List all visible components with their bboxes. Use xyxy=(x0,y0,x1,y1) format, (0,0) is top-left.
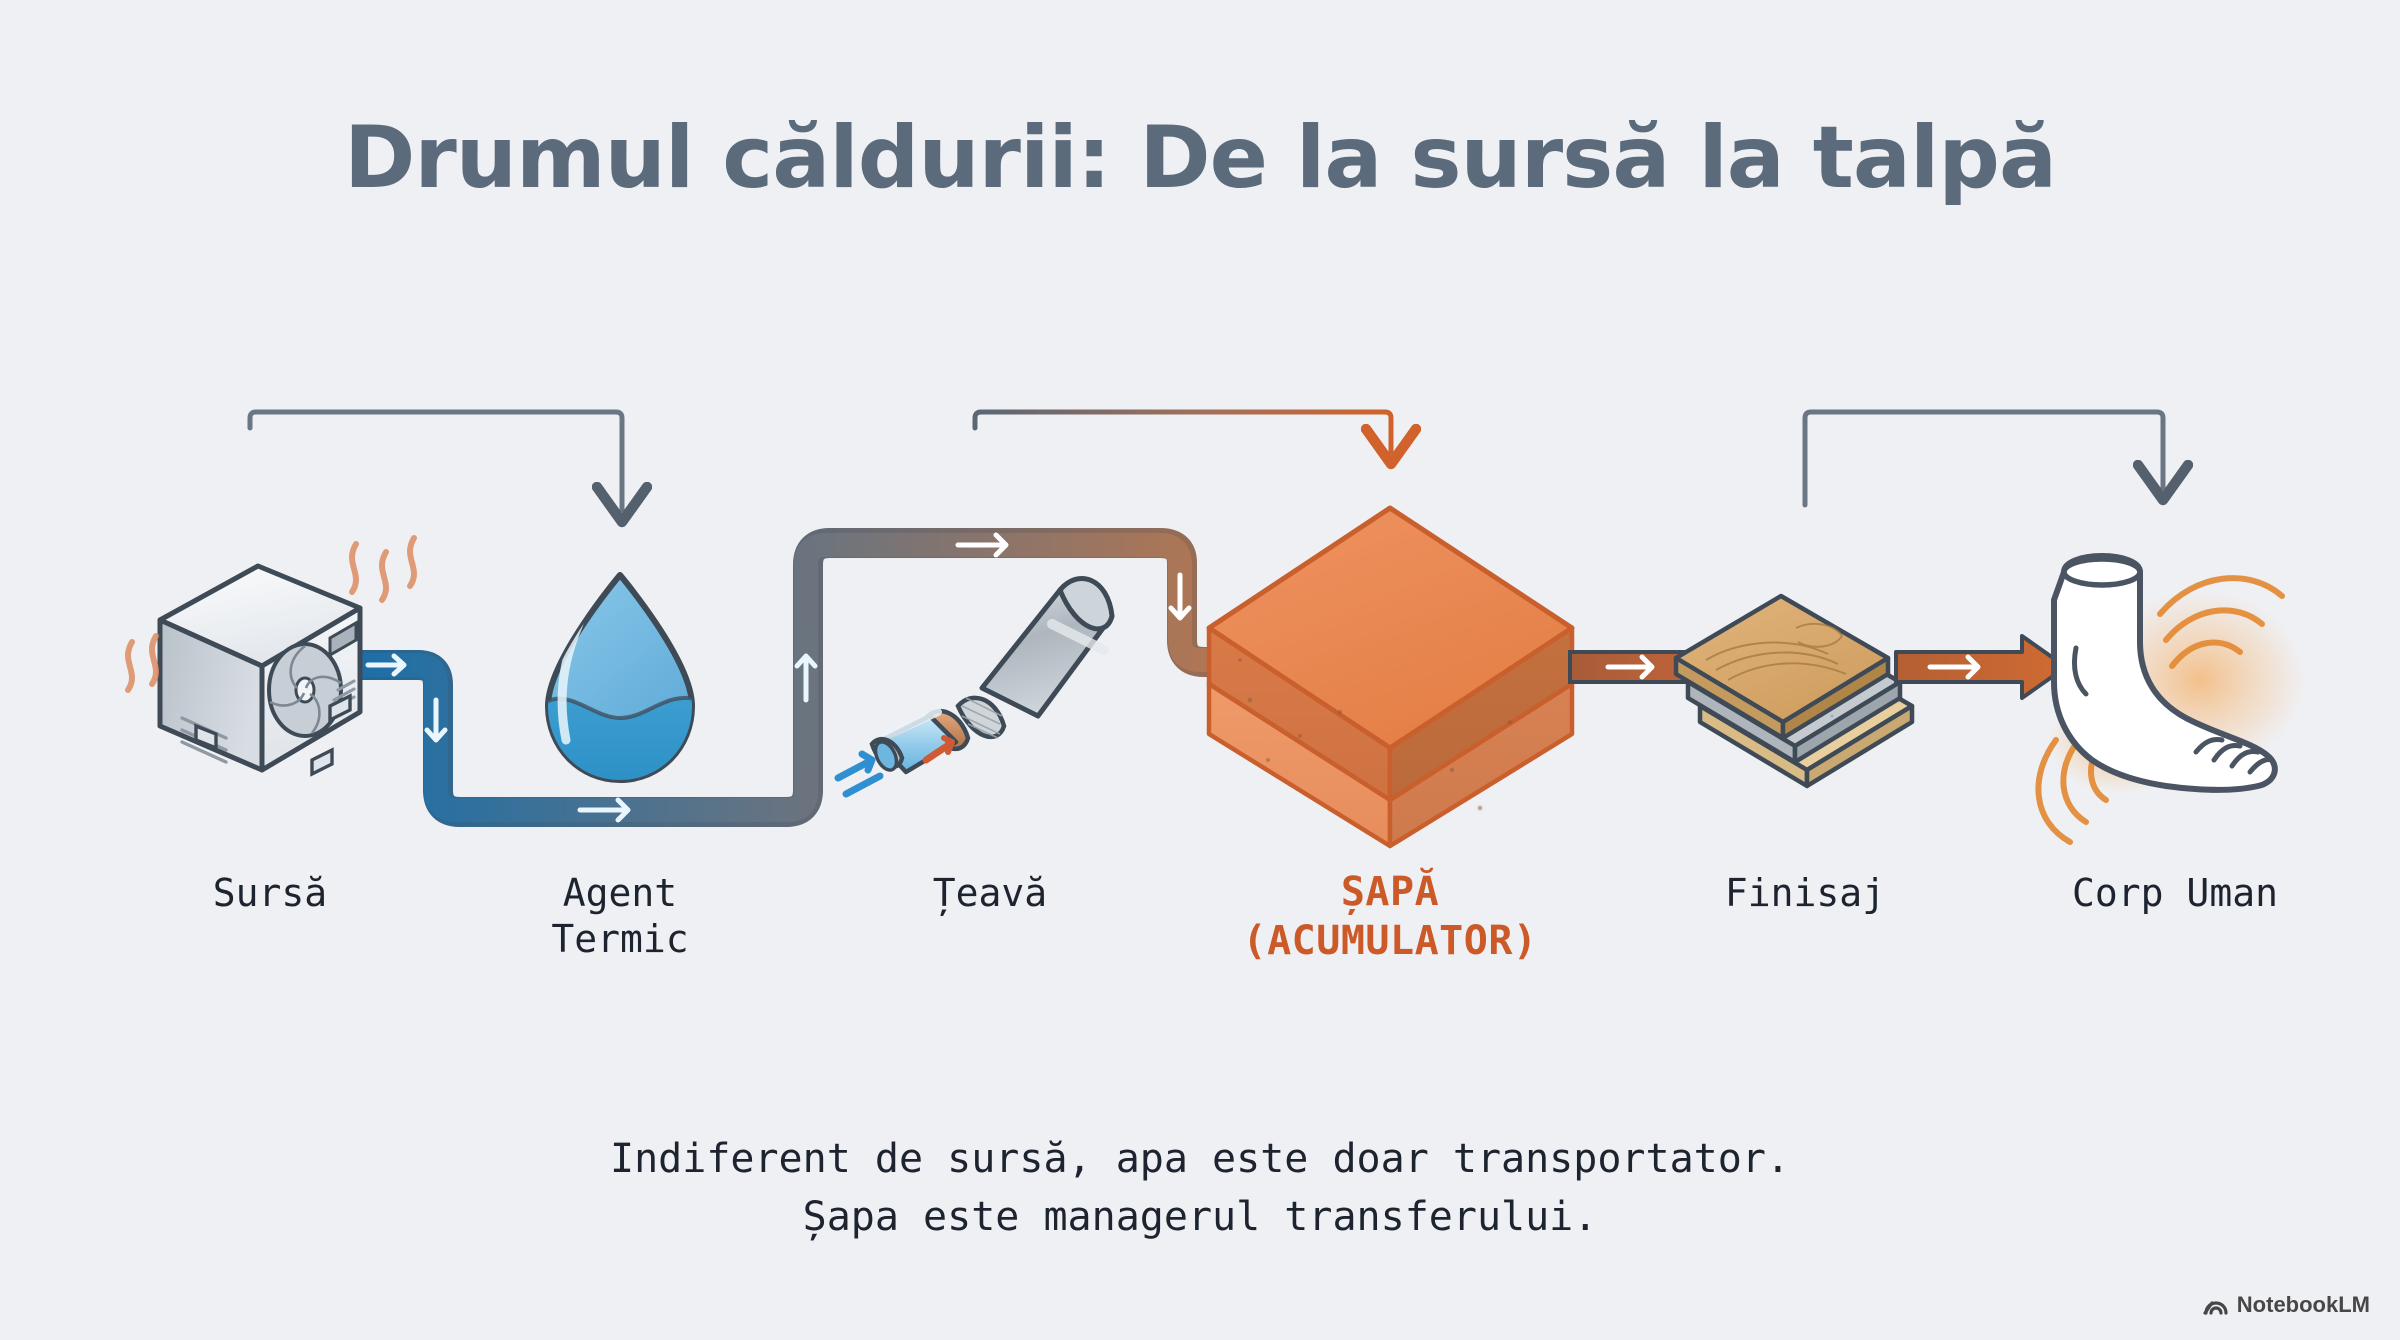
water-pipe-path xyxy=(352,535,1262,820)
screed-slab-icon xyxy=(1209,508,1572,846)
stage-label-agent-termic: Agent Termic xyxy=(400,870,840,963)
bracket-pipe-to-screed xyxy=(975,412,1391,452)
stage-label-sapa: ȘAPĂ (ACUMULATOR) xyxy=(1130,868,1650,966)
notebooklm-arc-icon xyxy=(2203,1294,2229,1316)
notebooklm-label: NotebookLM xyxy=(2237,1292,2370,1318)
bracket-source-to-agent xyxy=(250,412,622,510)
footer-line-1: Indiferent de sursă, apa este doar trans… xyxy=(0,1130,2400,1188)
warm-foot-icon xyxy=(2038,556,2305,842)
floor-layers-icon xyxy=(1676,596,1912,786)
stage-label-corp-uman: Corp Uman xyxy=(1960,870,2390,916)
stage-label-finisaj: Finisaj xyxy=(1600,870,2010,916)
water-droplet-icon xyxy=(540,575,700,800)
footer-line-2: Șapa este managerul transferului. xyxy=(0,1188,2400,1246)
infographic-canvas: Drumul căldurii: De la sursă la talpă xyxy=(0,0,2400,1340)
footer-caption: Indiferent de sursă, apa este doar trans… xyxy=(0,1130,2400,1246)
heat-transfer-arrow-finish-to-body xyxy=(1896,636,2066,698)
bracket-finish-to-body xyxy=(1805,412,2163,505)
pipe-cutaway-icon xyxy=(838,578,1112,794)
notebooklm-watermark: NotebookLM xyxy=(2203,1292,2370,1318)
